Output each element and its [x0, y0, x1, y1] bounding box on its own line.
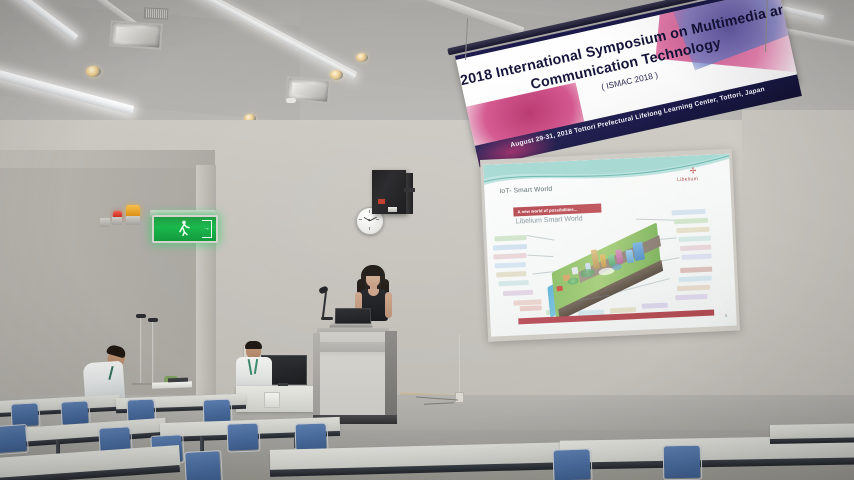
slide-callout: [671, 209, 705, 216]
slide-callout: [496, 271, 526, 277]
exit-sign: →: [152, 215, 218, 243]
presenter-hair-front: [364, 268, 382, 276]
power-cord: [459, 334, 460, 392]
av-control-panel: [264, 392, 280, 408]
iso-boat: [556, 286, 563, 292]
podium-left-edge: [313, 333, 320, 415]
ceiling-downlight: [86, 66, 101, 77]
projected-slide: IoT- Smart World ✢ Libelium A new world …: [483, 154, 737, 337]
slide-callout: [642, 303, 668, 309]
wall-column-edge: [196, 165, 216, 401]
podium-side: [385, 331, 397, 415]
podium-panel-band: [319, 342, 385, 352]
slide-red-banner-text: A new world of possibilities...: [517, 206, 577, 214]
slide-callout: [493, 244, 527, 251]
slide-callout: [680, 267, 712, 273]
slide-footer-mark: ✢: [719, 310, 723, 315]
ceiling-vent: [109, 20, 163, 50]
ceiling-smoke-detector: [286, 98, 296, 103]
slide-subtitle: Libelium Smart World: [516, 215, 583, 225]
beacon-mount: [126, 216, 140, 225]
projection-screen: IoT- Smart World ✢ Libelium A new world …: [480, 149, 740, 342]
running-person-icon: [178, 220, 192, 236]
ceiling-air-grille: [144, 7, 169, 19]
podium-microphone: [319, 287, 341, 331]
beacon-mount: [100, 218, 110, 227]
speaker-badge: [388, 207, 397, 212]
slide-callout: [679, 276, 712, 282]
slide-callout: [493, 253, 526, 259]
slide-callout: [680, 245, 711, 251]
slide-callout: [499, 280, 529, 286]
speaker-bracket: [404, 188, 415, 192]
speaker-side-panel: [406, 173, 413, 214]
ceiling-downlight: [356, 53, 368, 62]
mic-head-icon: [136, 314, 146, 318]
chair-frame: [227, 422, 261, 452]
beacon-mount: [112, 217, 122, 225]
libelium-logo: ✢ Libelium: [677, 165, 718, 186]
slide-callout: [677, 285, 710, 291]
operator-hair: [245, 341, 262, 349]
slide-callout: [503, 290, 533, 296]
presenter-right-arm: [385, 292, 392, 318]
chair-frame: [184, 450, 223, 480]
lecture-hall-photo: 2018 International Symposium on Multimed…: [0, 0, 854, 480]
wall-outlet: [455, 392, 464, 403]
slide-callout: [675, 294, 707, 300]
object-on-table: [168, 378, 188, 383]
mic-stand: [152, 322, 154, 384]
iso-building: [571, 267, 578, 275]
slide-callout: [676, 227, 709, 233]
slide-red-banner: A new world of possibilities...: [513, 204, 601, 217]
table-leg: [200, 436, 204, 452]
mic-capsule-icon: [318, 286, 329, 295]
mic-base: [321, 317, 333, 320]
ceiling-downlight: [330, 70, 343, 80]
slide-callout: [520, 305, 542, 311]
chair-frame: [0, 424, 29, 455]
podium: [311, 326, 399, 424]
libelium-wordmark: Libelium: [677, 176, 698, 183]
slide-callout: [674, 218, 708, 225]
chair-frame: [552, 448, 592, 480]
slide-callout: [682, 254, 712, 260]
slide-callout: [679, 236, 711, 242]
mic-head-icon: [148, 318, 158, 322]
slide-callout: [494, 235, 526, 241]
mic-gooseneck: [322, 292, 327, 318]
chair-frame: [663, 445, 703, 480]
wall-speaker: [372, 170, 406, 214]
slide-page-number: 6: [725, 313, 727, 318]
libelium-bird-icon: ✢: [690, 166, 697, 175]
exit-arrow-icon: →: [203, 225, 210, 232]
slide-callout: [495, 262, 526, 268]
jbl-logo-icon: [378, 199, 385, 204]
